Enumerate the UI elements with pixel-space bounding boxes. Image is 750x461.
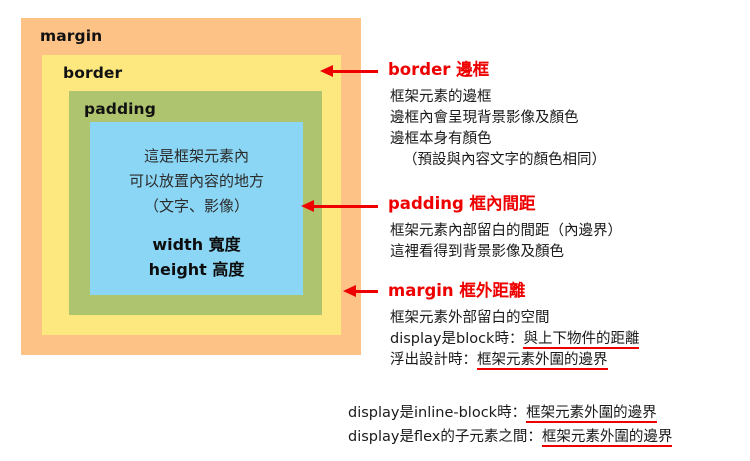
note-line: （預設與內容文字的顏色相同） xyxy=(390,150,606,171)
note-border: border 邊框 框架元素的邊框 邊框內會呈現背景影像及顏色 邊框本身有顏色 … xyxy=(388,60,606,171)
content-line: （文字、影像） xyxy=(90,194,303,219)
note-line: 浮出設計時：框架元素外圍的邊界 xyxy=(390,350,639,371)
note-line-emphasis: 框架元素外圍的邊界 xyxy=(477,352,608,370)
note-margin-body: 框架元素外部留白的空間 display是block時：與上下物件的距離 浮出設計… xyxy=(388,308,639,371)
note-padding-title: padding 框內間距 xyxy=(388,194,622,214)
note-line: 框架元素外部留白的空間 xyxy=(390,308,639,329)
note-line-emphasis: 與上下物件的距離 xyxy=(523,331,639,349)
note-padding: padding 框內間距 框架元素內部留白的間距（內邊界） 這裡看得到背景影像及… xyxy=(388,194,622,263)
annotations-panel: border 邊框 框架元素的邊框 邊框內會呈現背景影像及顏色 邊框本身有顏色 … xyxy=(388,0,750,461)
note-line: 框架元素內部留白的間距（內邊界） xyxy=(390,221,622,242)
note-margin: margin 框外距離 框架元素外部留白的空間 display是block時：與… xyxy=(388,281,639,371)
border-box-label: border xyxy=(63,64,122,82)
content-box-description: 這是框架元素內 可以放置內容的地方 （文字、影像） xyxy=(90,144,303,219)
note-margin-title: margin 框外距離 xyxy=(388,281,639,301)
padding-box-label: padding xyxy=(84,100,156,118)
note-line: 邊框本身有顏色 xyxy=(390,129,606,150)
note-line-prefix: 浮出設計時： xyxy=(390,352,477,368)
height-label: height 高度 xyxy=(90,257,303,282)
width-label: width 寬度 xyxy=(90,232,303,257)
note-line: 這裡看得到背景影像及顏色 xyxy=(390,242,622,263)
note-line: display是block時：與上下物件的距離 xyxy=(390,329,639,350)
box-model-diagram: 這是框架元素內 可以放置內容的地方 （文字、影像） width 寬度 heigh… xyxy=(21,18,361,355)
content-box-dimensions: width 寬度 height 高度 xyxy=(90,232,303,282)
content-line: 可以放置內容的地方 xyxy=(90,169,303,194)
note-line-prefix: display是inline-block時： xyxy=(348,405,526,421)
note-margin-extra: display是inline-block時：框架元素外圍的邊界 display是… xyxy=(348,401,750,449)
note-line-prefix: display是flex的子元素之間： xyxy=(348,429,542,445)
note-border-title: border 邊框 xyxy=(388,60,606,80)
note-line: 框架元素的邊框 xyxy=(390,87,606,108)
note-border-body: 框架元素的邊框 邊框內會呈現背景影像及顏色 邊框本身有顏色 （預設與內容文字的顏… xyxy=(388,87,606,171)
note-line: display是flex的子元素之間：框架元素外圍的邊界 xyxy=(348,425,750,449)
note-line-emphasis: 框架元素外圍的邊界 xyxy=(526,405,657,423)
content-line: 這是框架元素內 xyxy=(90,144,303,169)
note-line: display是inline-block時：框架元素外圍的邊界 xyxy=(348,401,750,425)
note-line-prefix: display是block時： xyxy=(390,331,523,347)
content-box: 這是框架元素內 可以放置內容的地方 （文字、影像） width 寬度 heigh… xyxy=(90,122,303,295)
note-line: 邊框內會呈現背景影像及顏色 xyxy=(390,108,606,129)
note-padding-body: 框架元素內部留白的間距（內邊界） 這裡看得到背景影像及顏色 xyxy=(388,221,622,263)
note-line-emphasis: 框架元素外圍的邊界 xyxy=(542,429,673,447)
margin-box-label: margin xyxy=(40,27,102,45)
